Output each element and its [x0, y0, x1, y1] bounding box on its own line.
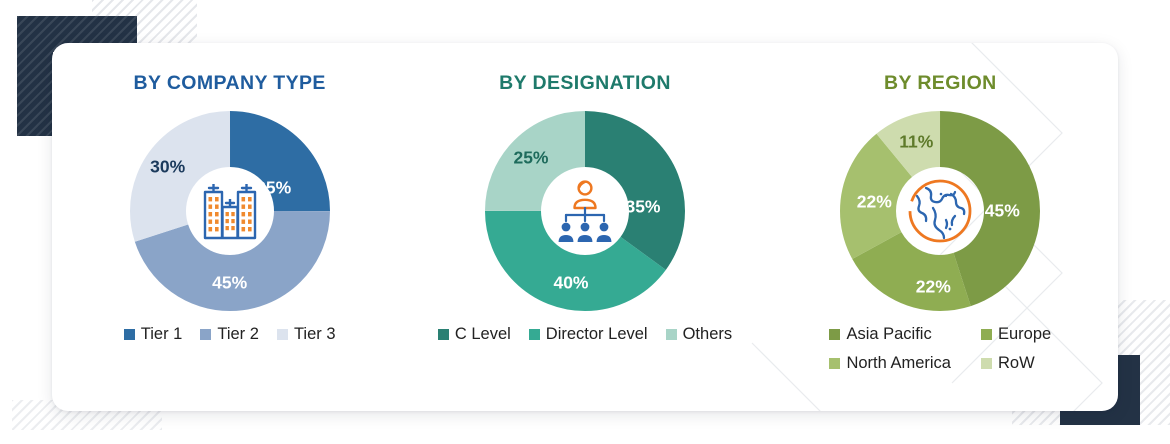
legend-item-tier-2[interactable]: Tier 2: [200, 325, 259, 344]
legend-item-tier-1[interactable]: Tier 1: [124, 325, 183, 344]
legend-item-asia-pacific[interactable]: Asia Pacific: [829, 325, 931, 344]
slice-label-asia-pacific: 45%: [985, 201, 1020, 222]
legend-swatch-icon: [666, 329, 677, 340]
legend-swatch-icon: [981, 358, 992, 369]
office-buildings-icon: [184, 165, 276, 257]
slice-label-tier-2: 45%: [212, 273, 247, 294]
slice-label-row: 11%: [899, 132, 933, 153]
slice-label-north-america: 22%: [857, 192, 892, 213]
slice-label-europe: 22%: [916, 277, 951, 298]
legend-region: Asia Pacific Europe North America RoW: [829, 325, 1051, 373]
legend-label: C Level: [455, 325, 511, 344]
legend-label: Tier 1: [141, 325, 183, 344]
legend-label: Europe: [998, 325, 1051, 344]
legend-swatch-icon: [124, 329, 135, 340]
legend-swatch-icon: [438, 329, 449, 340]
legend-item-row[interactable]: RoW: [981, 354, 1035, 373]
legend-label: Tier 2: [217, 325, 259, 344]
legend-label: Tier 3: [294, 325, 336, 344]
infographic-card: BY COMPANY TYPE 25% 45% 30%: [52, 43, 1118, 411]
donut-chart-region: 45% 22% 22% 11%: [840, 111, 1040, 311]
panel-by-region: BY REGION 45% 22% 22% 11%: [763, 43, 1118, 411]
legend-label: North America: [846, 354, 951, 373]
panel-by-designation: BY DESIGNATION 35% 40% 25%: [407, 43, 762, 411]
legend-item-tier-3[interactable]: Tier 3: [277, 325, 336, 344]
legend-label: Others: [683, 325, 733, 344]
legend-label: RoW: [998, 354, 1035, 373]
panel-by-company-type: BY COMPANY TYPE 25% 45% 30%: [52, 43, 407, 411]
legend-item-director-level[interactable]: Director Level: [529, 325, 648, 344]
legend-label: Director Level: [546, 325, 648, 344]
legend-item-others[interactable]: Others: [666, 325, 733, 344]
legend-item-c-level[interactable]: C Level: [438, 325, 511, 344]
donut-chart-company-type: 25% 45% 30%: [130, 111, 330, 311]
donut-chart-designation: 35% 40% 25%: [485, 111, 685, 311]
slice-label-director-level: 40%: [553, 273, 588, 294]
slice-label-tier-3: 30%: [150, 157, 185, 178]
legend-item-north-america[interactable]: North America: [829, 354, 951, 373]
org-chart-icon: [539, 165, 631, 257]
legend-swatch-icon: [200, 329, 211, 340]
legend-swatch-icon: [829, 358, 840, 369]
legend-swatch-icon: [829, 329, 840, 340]
legend-designation: C Level Director Level Others: [438, 325, 732, 344]
legend-company-type: Tier 1 Tier 2 Tier 3: [124, 325, 336, 344]
panel-title-company-type: BY COMPANY TYPE: [133, 72, 325, 95]
globe-icon: [894, 165, 986, 257]
panel-title-region: BY REGION: [884, 72, 997, 95]
panel-title-designation: BY DESIGNATION: [499, 72, 671, 95]
legend-swatch-icon: [277, 329, 288, 340]
legend-swatch-icon: [529, 329, 540, 340]
legend-item-europe[interactable]: Europe: [981, 325, 1051, 344]
legend-label: Asia Pacific: [846, 325, 931, 344]
legend-swatch-icon: [981, 329, 992, 340]
panels-container: BY COMPANY TYPE 25% 45% 30%: [52, 43, 1118, 411]
